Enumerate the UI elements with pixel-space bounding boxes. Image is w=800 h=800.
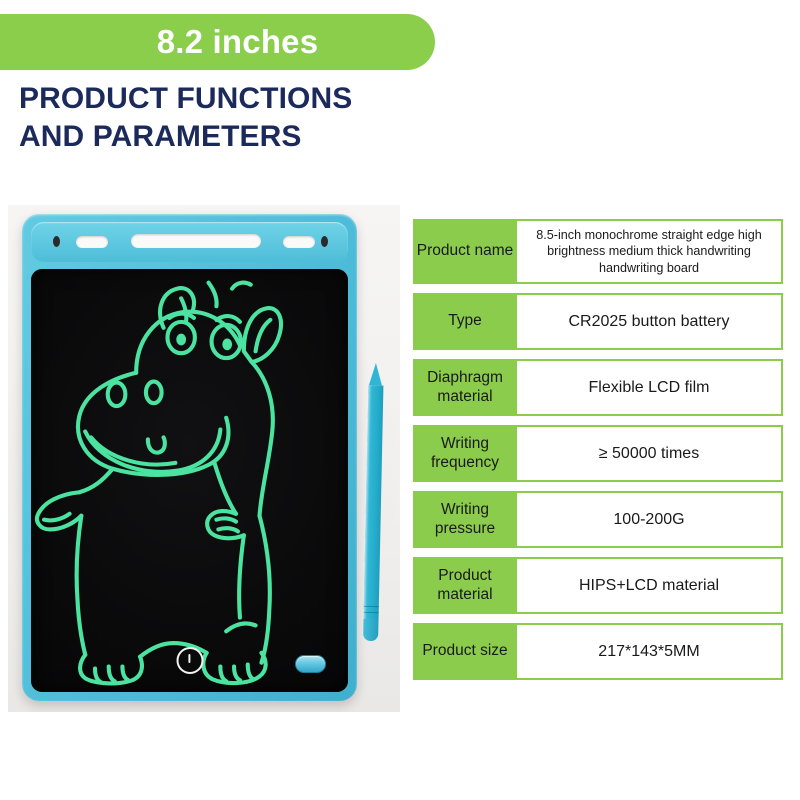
tablet-screen: [31, 269, 348, 692]
page-title-line-1: PRODUCT FUNCTIONS: [19, 80, 352, 118]
spec-label: Product size: [413, 623, 517, 680]
table-row: Diaphragm material Flexible LCD film: [413, 359, 783, 416]
table-row: Writing pressure 100-200G: [413, 491, 783, 548]
spec-value: Flexible LCD film: [517, 359, 783, 416]
power-icon[interactable]: [176, 647, 203, 674]
bezel-slot-center: [131, 234, 261, 248]
table-row: Type CR2025 button battery: [413, 293, 783, 350]
lock-switch[interactable]: [295, 655, 326, 673]
tablet-top-bezel: [31, 222, 348, 262]
bezel-slot-left: [76, 236, 108, 248]
header-badge-label: 8.2 inches: [0, 23, 435, 61]
page-title-line-2: AND PARAMETERS: [19, 118, 352, 156]
header-badge: 8.2 inches: [0, 14, 435, 70]
bezel-hole-right: [321, 236, 328, 247]
spec-value: 217*143*5MM: [517, 623, 783, 680]
spec-value: ≥ 50000 times: [517, 425, 783, 482]
specification-table: Product name 8.5-inch monochrome straigh…: [413, 219, 783, 689]
spec-label: Writing frequency: [413, 425, 517, 482]
table-row: Product name 8.5-inch monochrome straigh…: [413, 219, 783, 284]
spec-label: Product name: [413, 219, 517, 284]
stylus-tip: [368, 363, 382, 387]
spec-label: Product material: [413, 557, 517, 614]
bezel-slot-right: [283, 236, 315, 248]
spec-value: 8.5-inch monochrome straight edge high b…: [517, 219, 783, 284]
product-photo: [8, 205, 400, 712]
hippo-drawing: [31, 269, 348, 692]
spec-value: HIPS+LCD material: [517, 557, 783, 614]
spec-value: CR2025 button battery: [517, 293, 783, 350]
spec-label: Diaphragm material: [413, 359, 517, 416]
table-row: Writing frequency ≥ 50000 times: [413, 425, 783, 482]
table-row: Product size 217*143*5MM: [413, 623, 783, 680]
writing-tablet-device: [22, 214, 357, 701]
bezel-hole-left: [53, 236, 60, 247]
stylus-ring-lower: [364, 611, 379, 613]
spec-value: 100-200G: [517, 491, 783, 548]
page-title: PRODUCT FUNCTIONS AND PARAMETERS: [19, 80, 352, 157]
table-row: Product material HIPS+LCD material: [413, 557, 783, 614]
stylus-ring-upper: [364, 605, 379, 607]
spec-label: Type: [413, 293, 517, 350]
spec-label: Writing pressure: [413, 491, 517, 548]
stylus-end: [363, 619, 378, 641]
